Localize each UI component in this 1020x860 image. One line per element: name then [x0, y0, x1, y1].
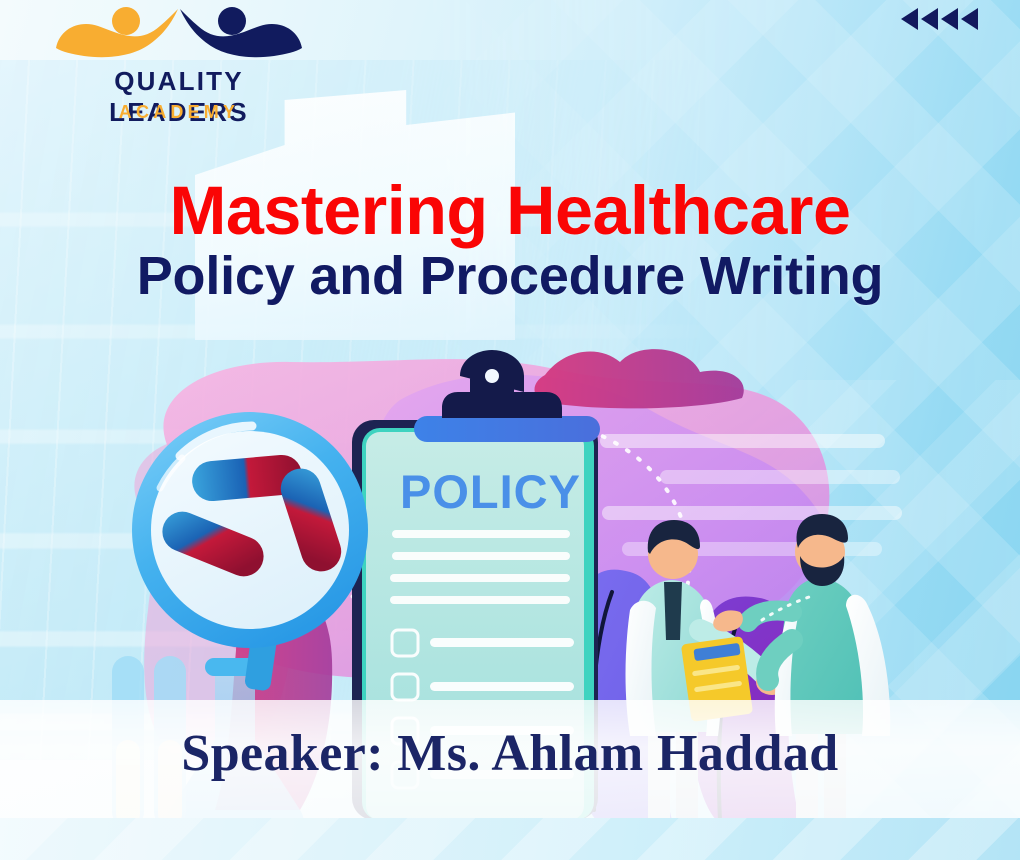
triangle-left-icon: [921, 8, 938, 30]
brand-tagline: ACADEMY: [44, 102, 314, 123]
speaker-label: Speaker: Ms. Ahlam Haddad: [0, 724, 1020, 783]
headline-secondary: Policy and Procedure Writing: [0, 249, 1020, 303]
triangle-left-icon: [941, 8, 958, 30]
decorative-arrows: [901, 8, 978, 30]
poster-canvas: QUALITY LEADERS ACADEMY Mastering Health…: [0, 0, 1020, 860]
triangle-left-icon: [901, 8, 918, 30]
headline-block: Mastering Healthcare Policy and Procedur…: [0, 178, 1020, 303]
floor-sheen: [0, 818, 1020, 860]
brand-logo[interactable]: QUALITY LEADERS ACADEMY: [44, 6, 314, 124]
two-people-swoosh-icon: [54, 6, 304, 62]
triangle-left-icon: [961, 8, 978, 30]
clipboard-heading-text: POLICY: [400, 465, 581, 518]
headline-primary: Mastering Healthcare: [5, 178, 1015, 244]
